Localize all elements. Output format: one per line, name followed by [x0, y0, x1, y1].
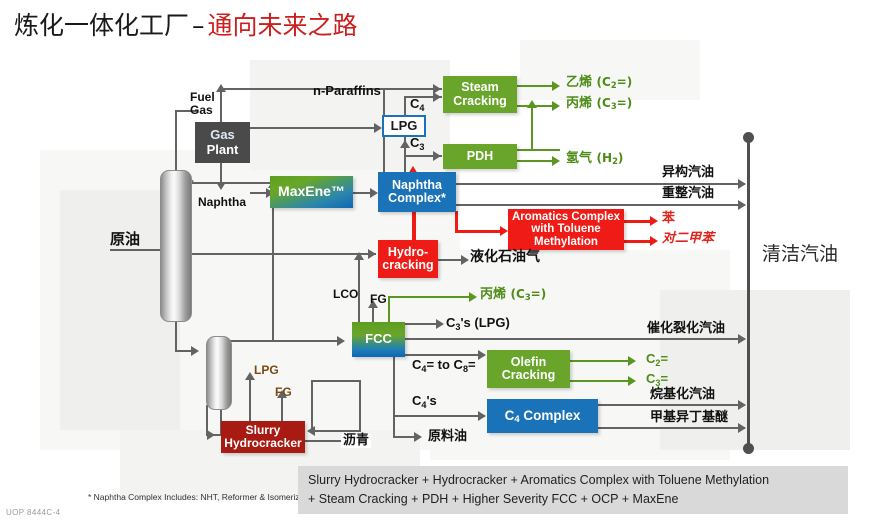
unit-slurry-hydrocracker[interactable]: Slurry Hydrocracker — [221, 421, 305, 453]
line-recycle-top — [311, 380, 361, 382]
arrow-mtbe — [738, 423, 746, 433]
arrow-pdh-h2 — [552, 156, 560, 166]
arrow-nc-to-lpg — [400, 140, 410, 148]
hydrocracking-line2: cracking — [382, 259, 433, 273]
footnote-naphtha-complex: * Naphtha Complex Includes: NHT, Reforme… — [88, 492, 318, 502]
line-shc-lpg-up — [249, 378, 251, 422]
product-lpg: 液化石油气 — [470, 250, 540, 265]
arrow-feedstock — [414, 432, 422, 442]
line-nc-to-arom-h — [455, 230, 503, 233]
arrow-c4-to-sc — [433, 92, 441, 102]
gas-plant-line1: Gas — [207, 128, 239, 142]
unit-olefin-cracking[interactable]: Olefin Cracking — [487, 350, 570, 388]
line-fuelgas-up — [220, 88, 222, 122]
slide-title: 炼化一体化工厂–通向未来之路 — [14, 6, 358, 42]
line-feedstock-down — [393, 416, 395, 437]
unit-maxene[interactable]: MaxEne™ — [270, 176, 353, 208]
collector-dot-top — [743, 132, 754, 143]
line-gasplant-to-lpg — [250, 127, 378, 129]
product-alkylate: 烷基化汽油 — [650, 388, 715, 402]
line-sc-ethylene — [517, 85, 557, 87]
steam-cracking-line1: Steam — [453, 81, 507, 95]
arrow-gasplant-to-lpg — [374, 123, 382, 133]
summary-bar: Slurry Hydrocracker + Hydrocracker + Aro… — [298, 466, 848, 514]
arrow-fcc-to-olefin — [478, 350, 486, 360]
line-pdh-up — [531, 106, 533, 150]
line-pdh-out — [517, 149, 560, 151]
arrow-sc-propylene — [552, 101, 560, 111]
aromatics-line3: Methylation — [512, 236, 620, 248]
aromatics-line1: Aromatics Complex — [512, 211, 620, 223]
label-asphalt: 沥青 — [341, 434, 371, 448]
vacuum-column — [206, 336, 232, 410]
slide-canvas: 炼化一体化工厂–通向未来之路 — [0, 0, 869, 526]
line-fcc-gasoline — [405, 338, 745, 340]
product-propylene-fcc: 丙烯 (C3=) — [480, 288, 546, 302]
aromatics-line2: with Toluene — [512, 223, 620, 235]
label-c3s-lpg: C3's (LPG) — [446, 316, 510, 330]
unit-pdh[interactable]: PDH — [443, 144, 517, 169]
line-c4s-right — [393, 415, 485, 417]
line-recycle-v2 — [311, 380, 313, 432]
unit-c4-complex[interactable]: C4 Complex — [487, 399, 598, 433]
label-c4-to-c8: C4= to C8= — [412, 358, 476, 372]
label-lco: LCO — [333, 288, 358, 301]
line-isomerate — [455, 183, 745, 185]
title-dash: – — [189, 11, 208, 40]
line-olefin-c3 — [570, 380, 632, 382]
naphtha-complex-line2: Complex* — [388, 192, 446, 206]
line-nc-to-arom-v — [455, 211, 458, 232]
line-alkylate — [598, 404, 745, 406]
line-recycle-back — [311, 430, 361, 432]
unit-gas-plant[interactable]: Gas Plant — [195, 122, 250, 163]
line-naphtha-return — [272, 186, 274, 341]
gas-plant-line2: Plant — [207, 143, 239, 157]
pdh-label: PDH — [467, 150, 493, 164]
label-fg-fcc: FG — [370, 293, 387, 306]
olefin-cracking-line2: Cracking — [502, 369, 556, 383]
product-hydrogen: 氢气 (H2) — [566, 152, 623, 166]
arrow-olefin-c2 — [628, 356, 636, 366]
fcc-label: FCC — [365, 332, 392, 346]
line-shc-fg-up — [281, 396, 283, 422]
product-benzene: 苯 — [662, 212, 675, 226]
label-c4s: C4's — [412, 394, 437, 408]
label-n-paraffins: n-Paraffins — [313, 84, 381, 98]
arrow-isomerate — [738, 179, 746, 189]
unit-fcc[interactable]: FCC — [352, 322, 405, 357]
arrow-c3-to-pdh — [433, 151, 441, 161]
arrow-hc-lpg — [461, 255, 469, 265]
arrow-maxene-to-naphtha-complex — [370, 188, 378, 198]
arrow-to-col2 — [191, 346, 199, 356]
product-mtbe: 甲基异丁基醚 — [650, 411, 728, 425]
label-crude: 原油 — [110, 232, 140, 248]
label-c4-stream: C4 — [410, 97, 424, 111]
collector-dot-bottom — [743, 443, 754, 454]
arrow-pdh-up — [527, 100, 537, 108]
arrow-to-shc — [207, 430, 215, 440]
lpg-label: LPG — [391, 119, 418, 133]
product-c3-olefin: C3= — [646, 372, 668, 386]
arrow-alkylate — [738, 400, 746, 410]
hydrocracking-line1: Hydro- — [382, 246, 433, 260]
unit-lpg-node[interactable]: LPG — [382, 115, 426, 137]
line-fcc-to-olefin — [405, 354, 485, 356]
maxene-label: MaxEne™ — [278, 184, 345, 199]
slurry-line2: Hydrocracker — [224, 437, 301, 450]
label-naphtha: Naphtha — [198, 196, 246, 209]
title-accent: 通向未来之路 — [208, 11, 358, 40]
label-lpg-slurry: LPG — [254, 364, 279, 377]
unit-steam-cracking[interactable]: Steam Cracking — [443, 76, 517, 113]
label-feedstock: 原料油 — [428, 430, 467, 444]
line-recycle-v — [359, 380, 361, 432]
product-propylene-sc: 丙烯 (C3=) — [566, 97, 632, 111]
unit-naphtha-complex[interactable]: Naphtha Complex* — [378, 172, 456, 212]
line-pdh-h2 — [517, 160, 557, 162]
steam-cracking-line2: Cracking — [453, 95, 507, 109]
line-lpg-c4-up — [404, 96, 406, 116]
unit-hydrocracking[interactable]: Hydro- cracking — [378, 240, 438, 278]
line-col1-to-hc — [176, 253, 376, 255]
product-ethylene: 乙烯 (C2=) — [566, 76, 632, 90]
product-paraxylene: 对二甲苯 — [662, 232, 714, 246]
arrow-nc-to-arom — [500, 226, 508, 236]
arrow-col2-to-fcc — [337, 336, 345, 346]
c4-complex-label: C4 Complex — [505, 409, 581, 424]
arrow-reformate — [738, 200, 746, 210]
arrow-c4s-to-complex — [478, 411, 486, 421]
line-reformate — [455, 204, 745, 206]
arrow-fcc-c3s — [436, 319, 444, 329]
clean-gasoline-collector — [747, 136, 750, 448]
arrow-olefin-c3 — [628, 376, 636, 386]
product-c2-olefin: C2= — [646, 352, 668, 366]
line-olefin-c2 — [570, 360, 632, 362]
arrow-fcc-gasoline — [738, 334, 746, 344]
line-col2-to-fcc — [224, 340, 342, 342]
label-fg-slurry: FG — [275, 386, 292, 399]
summary-line-2: + Steam Cracking + PDH + Higher Severity… — [308, 490, 838, 509]
product-fcc-gasoline: 催化裂化汽油 — [647, 322, 725, 336]
arrow-fcc-propylene — [469, 292, 477, 302]
unit-aromatics-complex[interactable]: Aromatics Complex with Toluene Methylati… — [508, 209, 624, 250]
product-isomerate: 异构汽油 — [662, 166, 714, 180]
product-clean-gasoline: 清洁汽油 — [762, 245, 838, 265]
arrow-lco — [354, 252, 364, 260]
product-reformate: 重整汽油 — [662, 187, 714, 201]
uop-code: UOP 8444C-4 — [6, 508, 61, 517]
label-fuel-gas-2: Gas — [190, 104, 213, 117]
line-sc-propylene — [517, 105, 557, 107]
crude-distillation-column — [160, 170, 192, 322]
line-mtbe — [598, 427, 745, 429]
arrow-sc-ethylene — [552, 81, 560, 91]
line-fcc-prop-right — [388, 296, 474, 298]
arrow-arom-benzene — [650, 216, 658, 226]
naphtha-complex-line1: Naphtha — [388, 179, 446, 193]
label-c3-stream: C3 — [410, 136, 424, 150]
label-fuel-gas-1: Fuel — [190, 91, 215, 104]
line-c4s-down — [393, 357, 395, 416]
summary-line-1: Slurry Hydrocracker + Hydrocracker + Aro… — [308, 471, 838, 490]
arrow-arom-px — [650, 236, 658, 246]
olefin-cracking-line1: Olefin — [502, 356, 556, 370]
title-main: 炼化一体化工厂 — [14, 11, 189, 40]
arrow-to-hc — [368, 249, 376, 259]
